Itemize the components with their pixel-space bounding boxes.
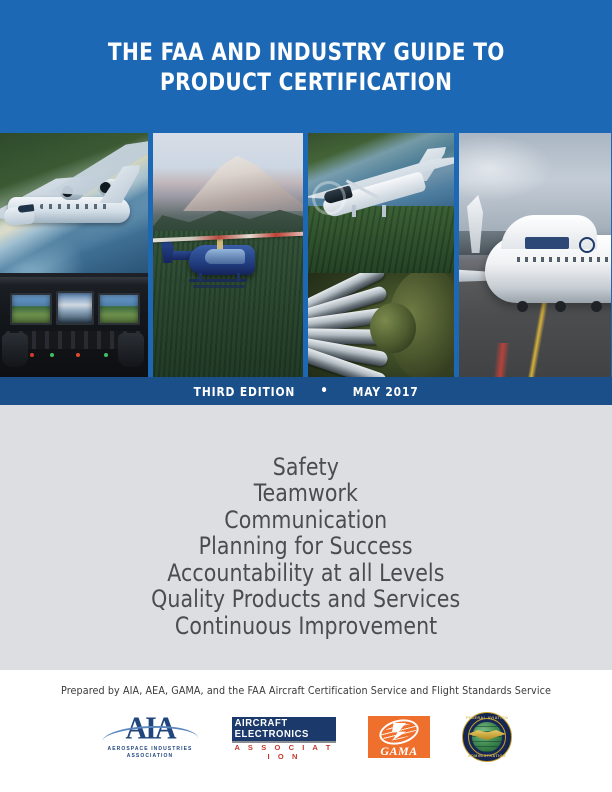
faa-seal-text-bottom: ADMINISTRATION xyxy=(462,754,512,758)
jet-cabin-windows xyxy=(40,204,110,209)
cockpit-avionics-photo xyxy=(0,273,148,377)
value-item-planning-for-success: Planning for Success xyxy=(199,533,413,560)
helicopter-cabin-windows xyxy=(205,249,245,264)
value-item-safety: Safety xyxy=(273,454,339,481)
aea-name-bar: AIRCRAFT ELECTRONICS xyxy=(232,717,336,741)
edition-date: MAY 2017 xyxy=(353,384,419,399)
core-values-panel: Safety Teamwork Communication Planning f… xyxy=(0,405,612,670)
edition-bar: THIRD EDITION • MAY 2017 xyxy=(0,377,612,405)
aea-logo: AIRCRAFT ELECTRONICS A S S O C I A T I O… xyxy=(232,717,336,757)
photo-column-2 xyxy=(153,133,303,377)
airliner-at-gate-photo xyxy=(459,133,611,377)
light-aircraft-photo xyxy=(308,133,454,273)
pfd-display-right xyxy=(98,293,140,325)
mfd-display-center xyxy=(56,291,94,325)
status-light-green-2 xyxy=(104,353,108,357)
faa-seal-text-top: FEDERAL AVIATION xyxy=(462,716,512,720)
airliner-main-gear-3 xyxy=(591,301,602,312)
airliner-cabin-windows xyxy=(517,257,611,262)
value-item-teamwork: Teamwork xyxy=(254,480,358,507)
faa-seal-logo: FEDERAL AVIATION ADMINISTRATION xyxy=(462,712,512,762)
warning-light-red-2 xyxy=(76,353,80,357)
snow-capped-mountain xyxy=(183,153,303,212)
cover-header: THE FAA AND INDUSTRY GUIDE TO PRODUCT CE… xyxy=(0,0,612,133)
glareshield xyxy=(0,277,148,285)
gama-logo: GAMA xyxy=(368,716,430,758)
apron-marking-red xyxy=(459,343,559,377)
status-light-green-1 xyxy=(50,353,54,357)
value-item-quality-products: Quality Products and Services xyxy=(151,586,460,613)
value-item-continuous-improvement: Continuous Improvement xyxy=(175,613,437,640)
page-title-line-1: THE FAA AND INDUSTRY GUIDE TO xyxy=(108,37,505,67)
turbine-fan-photo xyxy=(308,273,454,377)
edition-separator-dot: • xyxy=(321,384,330,398)
airline-crane-emblem xyxy=(579,237,595,253)
airliner-main-gear-2 xyxy=(555,301,566,312)
helicopter-strut-2 xyxy=(237,273,240,281)
edition-label: THIRD EDITION xyxy=(194,384,296,399)
control-yoke-right xyxy=(118,333,144,367)
landing-gear-1 xyxy=(352,205,356,217)
aea-name-text: AIRCRAFT ELECTRONICS xyxy=(235,718,334,740)
aia-logo: AIA AEROSPACE INDUSTRIES ASSOCIATION xyxy=(100,714,200,760)
value-item-communication: Communication xyxy=(225,507,388,534)
gama-wordmark: GAMA xyxy=(368,744,430,759)
sponsor-logo-row: AIA AEROSPACE INDUSTRIES ASSOCIATION AIR… xyxy=(0,708,612,766)
business-jet-photo xyxy=(0,133,148,273)
engine-spinner-hub xyxy=(370,303,416,353)
aea-association-text: A S S O C I A T I O N xyxy=(232,743,336,761)
forested-terrain xyxy=(308,206,454,273)
cover-photo-strip xyxy=(0,133,612,377)
helicopter-photo xyxy=(153,133,303,377)
aia-tagline-line-1: AEROSPACE INDUSTRIES xyxy=(100,746,200,752)
aia-tagline-line-2: ASSOCIATION xyxy=(100,753,200,759)
pfd-display-left xyxy=(10,293,52,325)
airline-livery-wordmark xyxy=(525,237,569,249)
photo-column-1 xyxy=(0,133,148,377)
photo-column-4 xyxy=(459,133,611,377)
airliner-main-gear-1 xyxy=(517,301,528,312)
value-item-accountability: Accountability at all Levels xyxy=(167,560,444,587)
photo-column-3 xyxy=(308,133,454,377)
document-cover-page: THE FAA AND INDUSTRY GUIDE TO PRODUCT CE… xyxy=(0,0,612,792)
cover-footer: Prepared by AIA, AEA, GAMA, and the FAA … xyxy=(0,670,612,792)
helicopter-strut-1 xyxy=(199,273,202,281)
warning-light-red-1 xyxy=(30,353,34,357)
control-yoke-left xyxy=(2,333,28,367)
prepared-by-text: Prepared by AIA, AEA, GAMA, and the FAA … xyxy=(9,684,603,697)
helicopter-skid-2 xyxy=(193,285,245,288)
landing-gear-2 xyxy=(382,205,386,217)
page-title-line-2: PRODUCT CERTIFICATION xyxy=(160,67,452,97)
